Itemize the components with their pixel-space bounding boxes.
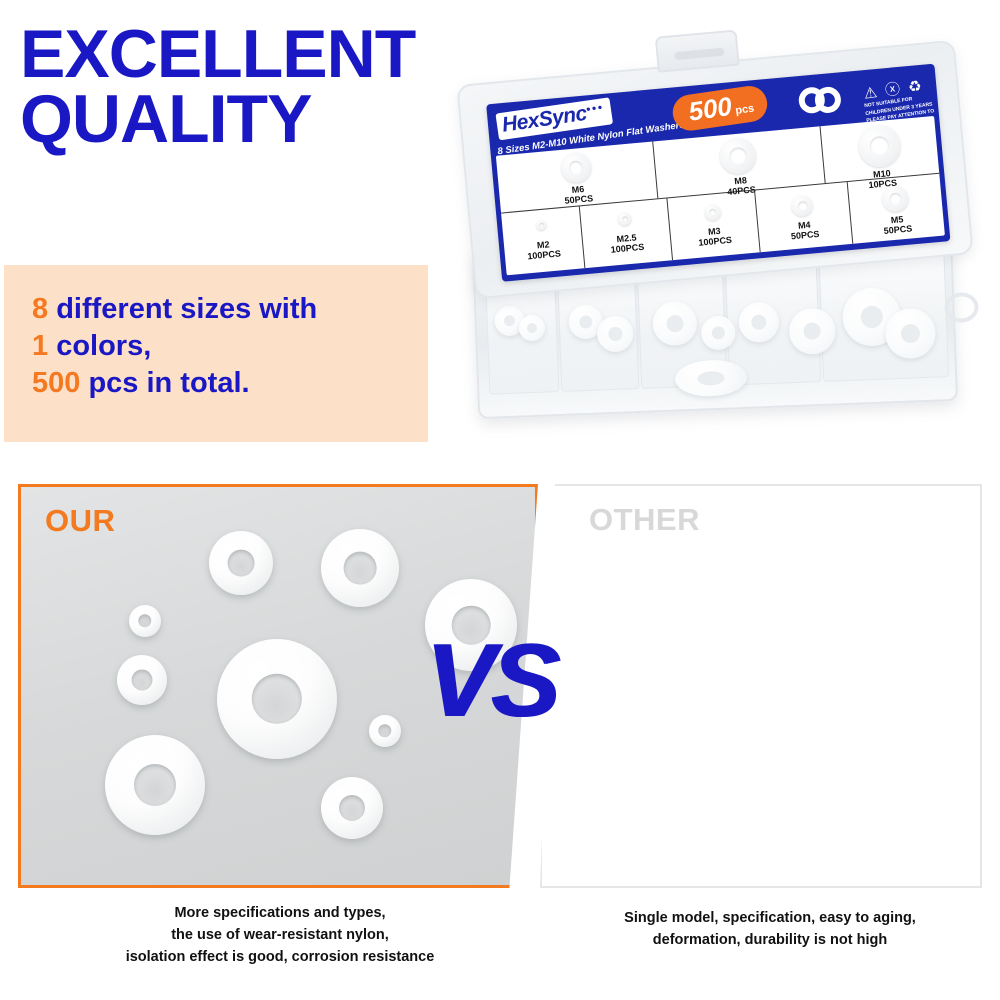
- feature-sizes-count: 8: [32, 293, 48, 325]
- our-washer: [209, 531, 273, 595]
- our-caption-line-1: More specifications and types,: [20, 903, 540, 925]
- vs-badge: VS: [425, 622, 556, 741]
- our-label: OUR: [45, 503, 115, 539]
- product-label: HexSync●●● 8 Sizes M2-M10 White Nylon Fl…: [486, 64, 950, 282]
- washer-shape: [105, 735, 205, 835]
- feature-line-1: 8 different sizes with: [32, 291, 428, 328]
- size-qty: 50PCS: [883, 224, 912, 237]
- size-qty: 100PCS: [698, 235, 732, 248]
- our-washer: [321, 777, 383, 839]
- washer-shape: [209, 531, 273, 595]
- other-caption-line-1: Single model, specification, easy to agi…: [560, 908, 980, 930]
- size-cell-m25: M2.5 100PCS: [580, 198, 673, 268]
- brand-dots-icon: ●●●: [585, 102, 604, 113]
- feature-colors-text: colors,: [48, 330, 151, 362]
- other-product-panel: OTHER: [540, 484, 982, 888]
- feature-line-2: 1 colors,: [32, 328, 428, 365]
- other-caption: Single model, specification, easy to agi…: [560, 908, 980, 952]
- quantity-badge: 500pcs: [670, 84, 770, 133]
- washer-icon: [719, 136, 758, 175]
- our-washer: [321, 529, 399, 607]
- washer-shape: [369, 715, 401, 747]
- washer-shape: [321, 777, 383, 839]
- size-cell-m3: M3 100PCS: [668, 190, 761, 260]
- our-caption-line-3: isolation effect is good, corrosion resi…: [20, 947, 540, 969]
- feature-sizes-text: different sizes with: [48, 293, 317, 325]
- washer-icon: [536, 220, 547, 231]
- washer-icon: [618, 212, 632, 226]
- size-cell-m10: M10 10PCS: [820, 116, 939, 183]
- feature-total-count: 500: [32, 367, 80, 399]
- washer-icon: [857, 123, 903, 169]
- lid-clasp[interactable]: [655, 29, 740, 72]
- washer-icon: [560, 151, 593, 184]
- feature-box: 8 different sizes with 1 colors, 500 pcs…: [4, 265, 428, 442]
- our-washer: [105, 735, 205, 835]
- our-washer: [117, 655, 167, 705]
- our-washer: [217, 639, 337, 759]
- washer-icon: [704, 204, 721, 221]
- box-latch-ring[interactable]: [943, 291, 979, 323]
- size-cell-m4: M4 50PCS: [755, 182, 853, 252]
- other-caption-line-2: deformation, durability is not high: [560, 930, 980, 952]
- washer-shape: [129, 605, 161, 637]
- badge-count: 500: [687, 91, 734, 127]
- size-qty: 50PCS: [791, 229, 820, 242]
- our-caption-line-2: the use of wear-resistant nylon,: [20, 925, 540, 947]
- product-photo: HexSync●●● 8 Sizes M2-M10 White Nylon Fl…: [455, 22, 1000, 472]
- badge-unit: pcs: [735, 102, 755, 117]
- washer-shape: [321, 529, 399, 607]
- storage-box-lid: HexSync●●● 8 Sizes M2-M10 White Nylon Fl…: [456, 40, 973, 299]
- washer-shape: [117, 655, 167, 705]
- our-washer: [129, 605, 161, 637]
- feature-colors-count: 1: [32, 330, 48, 362]
- feature-total-text: pcs in total.: [80, 367, 249, 399]
- other-label: OTHER: [589, 502, 700, 538]
- washer-icon: [791, 194, 814, 217]
- washer-icon: [881, 185, 909, 213]
- size-qty: 100PCS: [610, 242, 644, 255]
- feature-line-3: 500 pcs in total.: [32, 365, 428, 402]
- washer-shape: [217, 639, 337, 759]
- infographic-page: EXCELLENT QUALITY 8 different sizes with…: [0, 0, 1000, 1000]
- size-cell-m2: M2 100PCS: [501, 206, 585, 275]
- size-qty: 100PCS: [527, 249, 561, 262]
- size-cell-m5: M5 50PCS: [847, 174, 945, 244]
- our-washer: [369, 715, 401, 747]
- brand-name: HexSync: [501, 102, 589, 137]
- our-caption: More specifications and types, the use o…: [20, 903, 540, 968]
